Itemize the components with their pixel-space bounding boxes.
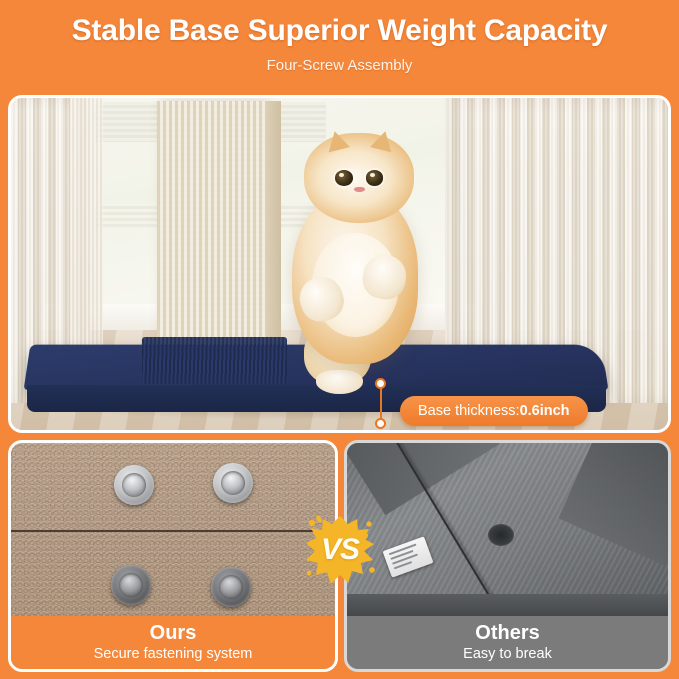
vs-label: VS [303, 513, 377, 587]
cat-nose [354, 187, 365, 192]
others-caption: Others Easy to break [347, 616, 668, 669]
screw-washer-bottom-right [211, 567, 251, 607]
ours-caption: Ours Secure fastening system [11, 616, 335, 669]
others-photo [347, 443, 668, 616]
ours-comparison-panel: Ours Secure fastening system [8, 440, 338, 672]
thickness-dimension-line [380, 383, 382, 423]
ours-photo [11, 443, 335, 616]
base-thickness-value: 0.6inch [520, 403, 570, 419]
screw-washer-bottom-left [111, 565, 151, 605]
cat-ear-right [370, 129, 396, 153]
screw-washer-top-right [213, 463, 253, 503]
break-point [488, 524, 514, 546]
hero-scene [11, 98, 668, 430]
page-title: Stable Base Superior Weight Capacity [72, 14, 608, 47]
thickness-dimension-dot-top [375, 378, 386, 389]
ours-title: Ours [150, 623, 197, 644]
vs-badge: VS [303, 513, 377, 587]
cat-eye-right [366, 170, 384, 185]
sisal-scratching-post [157, 101, 265, 353]
page-subtitle: Four-Screw Assembly [267, 57, 413, 74]
broken-base-bottom-edge [347, 594, 668, 616]
cat-eye-left [335, 170, 353, 185]
cat [261, 125, 458, 397]
hero-photo-panel [8, 95, 671, 433]
thickness-dimension-dot-bottom [375, 418, 386, 429]
cat-ear-left [324, 129, 350, 153]
base-thickness-badge: Base thickness:0.6inch [400, 396, 588, 426]
base-seam-line [11, 530, 335, 532]
others-title: Others [475, 623, 539, 644]
product-sticker-label [382, 537, 433, 578]
ours-subtitle: Secure fastening system [94, 647, 253, 662]
broken-base-edge-right [558, 440, 671, 565]
header-banner: Stable Base Superior Weight Capacity Fou… [0, 0, 679, 97]
screw-washer-top-left [114, 465, 154, 505]
others-comparison-panel: Others Easy to break [344, 440, 671, 672]
broken-base-edge-left [344, 440, 500, 515]
cat-hind-paw [316, 370, 363, 395]
cat-head [304, 133, 414, 223]
others-subtitle: Easy to break [463, 647, 552, 662]
base-thickness-label: Base thickness: [418, 403, 520, 419]
